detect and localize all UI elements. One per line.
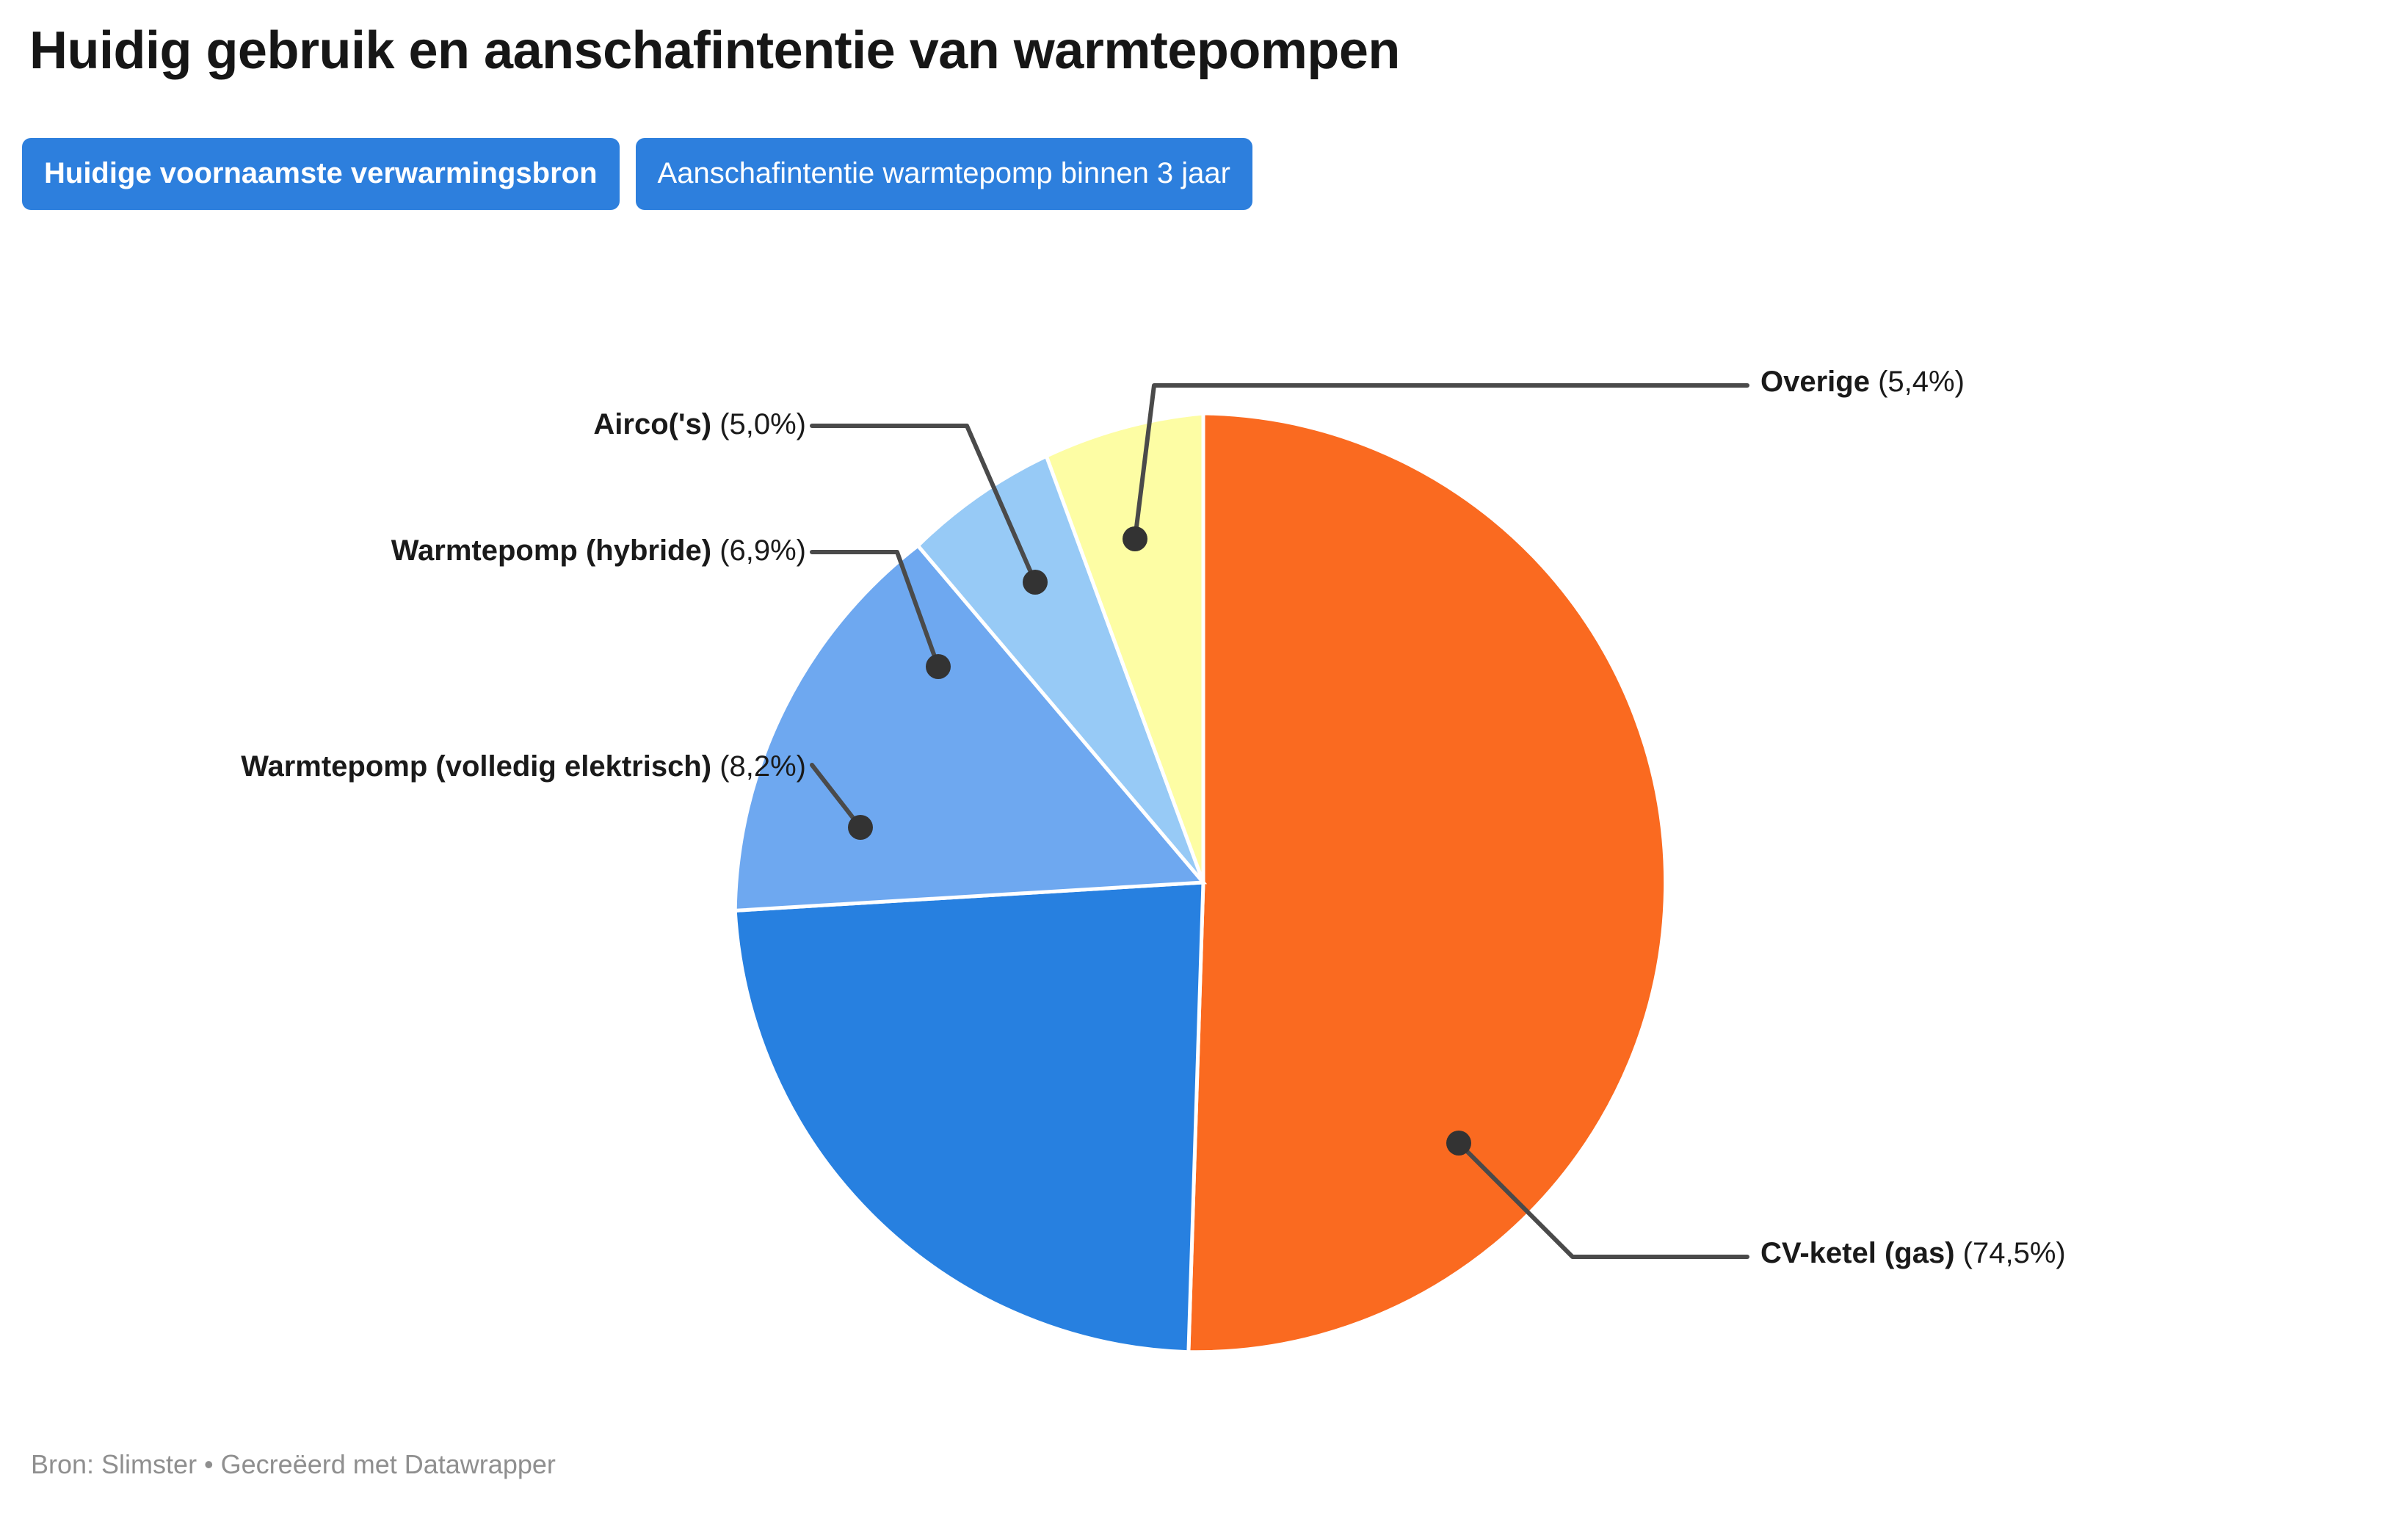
pie-label-airco-name: Airco('s) xyxy=(593,408,711,440)
pie-label-airco-value: (5,0%) xyxy=(719,408,806,440)
pie-label-warmtepomp-hybride-name: Warmtepomp (hybride) xyxy=(391,534,711,567)
source-note: Bron: Slimster • Gecreëerd met Datawrapp… xyxy=(31,1448,556,1481)
pie-label-cv-ketel-gas-value: (74,5%) xyxy=(1963,1237,2066,1269)
leader-dot-airco xyxy=(1023,570,1048,595)
pie-label-warmtepomp-volledig-elektrisch-name: Warmtepomp (volledig elektrisch) xyxy=(241,750,711,783)
pie-label-warmtepomp-volledig-elektrisch[interactable]: Warmtepomp (volledig elektrisch) (8,2%) xyxy=(116,745,806,788)
pie-label-overige-value: (5,4%) xyxy=(1878,366,1965,398)
pie-chart-figure: Overige (5,4%) Airco('s) (5,0%) Warmtepo… xyxy=(0,0,2408,1527)
leader-dot-elektrisch xyxy=(848,815,873,840)
pie-slice-cv-ketel-gas[interactable] xyxy=(1189,413,1666,1352)
pie-label-cv-ketel-gas[interactable]: CV-ketel (gas) (74,5%) xyxy=(1760,1233,2066,1273)
leader-dot-hybride xyxy=(926,654,951,679)
pie-label-warmtepomp-hybride[interactable]: Warmtepomp (hybride) (6,9%) xyxy=(182,531,806,570)
pie-label-overige[interactable]: Overige (5,4%) xyxy=(1760,362,1965,402)
leader-dot-overige xyxy=(1123,526,1147,551)
pie-label-warmtepomp-hybride-value: (6,9%) xyxy=(719,534,806,567)
pie-slice-warmtepomp-volledig-elektrisch[interactable] xyxy=(735,882,1203,1352)
pie-label-airco[interactable]: Airco('s) (5,0%) xyxy=(424,405,806,444)
chart-page: Huidig gebruik en aanschafintentie van w… xyxy=(0,0,2408,1527)
leader-dot-cv-ketel xyxy=(1446,1131,1471,1156)
pie-label-warmtepomp-volledig-elektrisch-value: (8,2%) xyxy=(719,750,806,783)
pie-label-cv-ketel-gas-name: CV-ketel (gas) xyxy=(1760,1237,1955,1269)
pie-label-overige-name: Overige xyxy=(1760,366,1870,398)
